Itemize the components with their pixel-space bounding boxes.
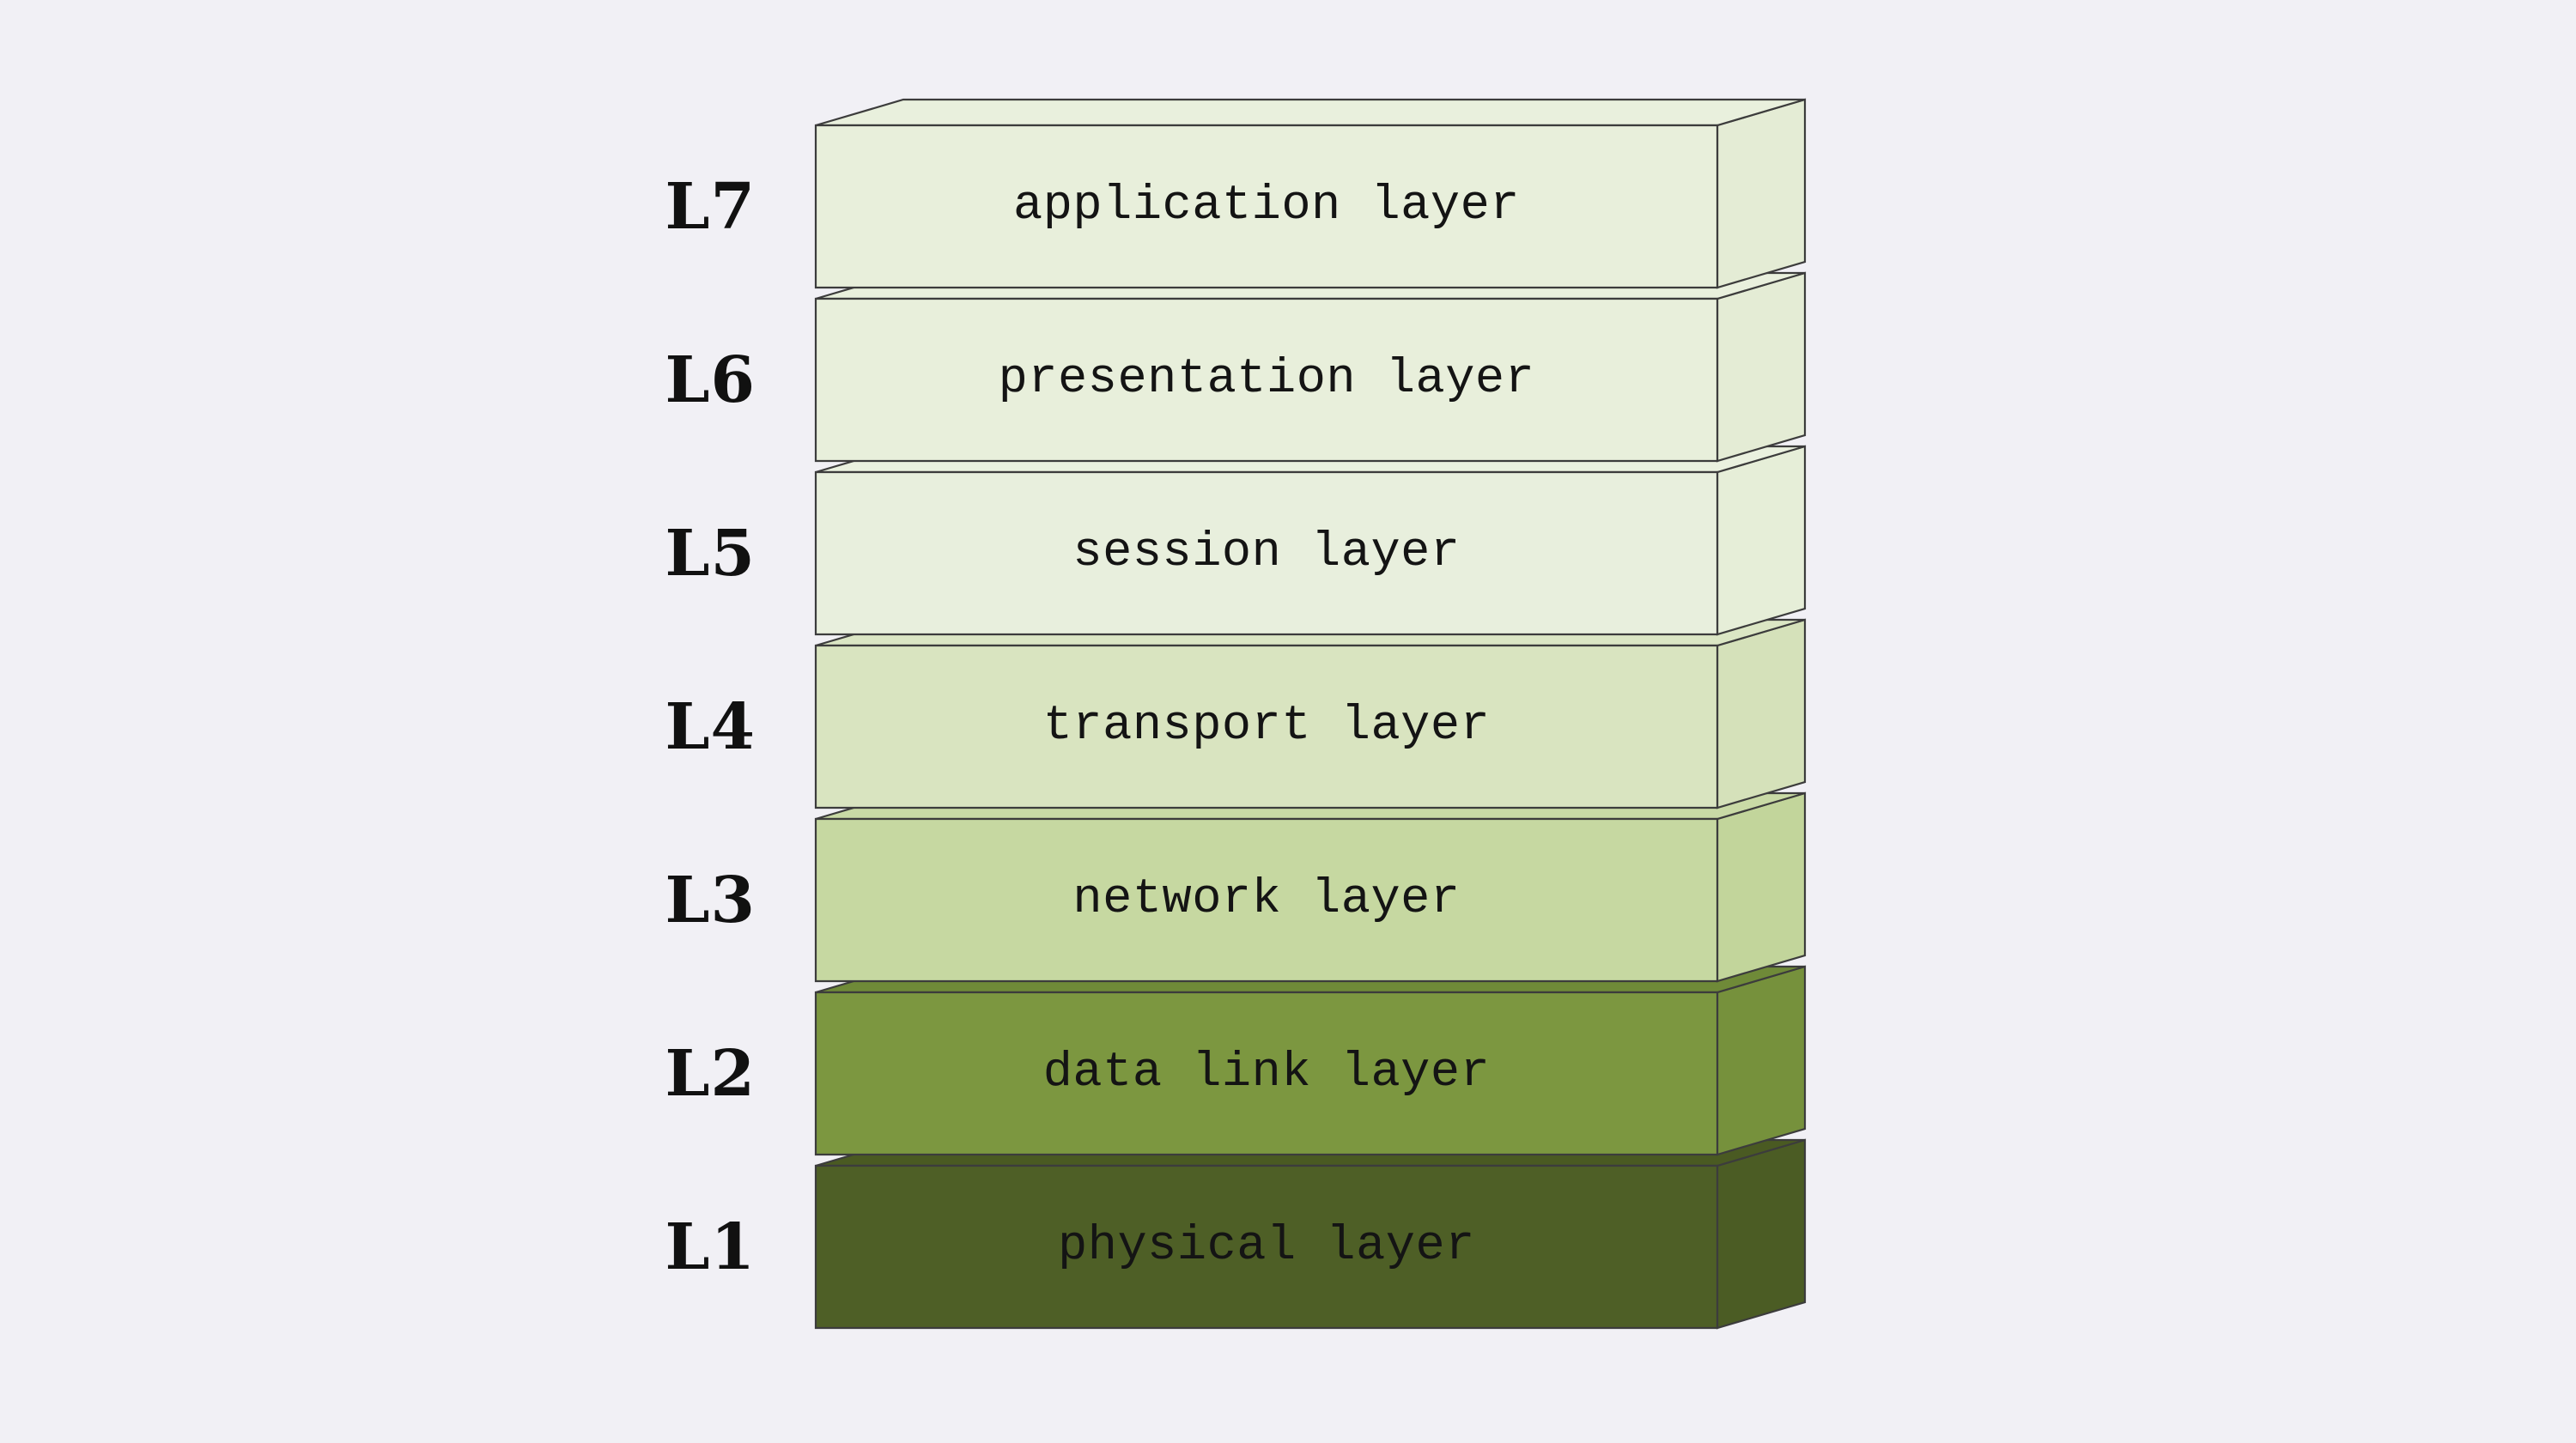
layer-index-label-L3: L3 [601,869,756,932]
diagram-canvas: L7L6L5L4L3L2L1 application layerpresenta… [0,0,2576,1443]
layer-side-face-L2 [1717,967,1805,1155]
layer-side-face-L4 [1717,620,1805,808]
layer-side-face-L7 [1717,100,1805,288]
layer-name-L4: transport layer [816,702,1717,751]
layer-name-L6: presentation layer [816,355,1717,404]
layer-side-face-L5 [1717,446,1805,634]
layer-side-face-L3 [1717,793,1805,981]
layer-index-label-L2: L2 [601,1042,756,1106]
layer-name-L1: physical layer [816,1222,1717,1271]
layer-side-face-L1 [1717,1140,1805,1328]
layer-name-L5: session layer [816,529,1717,578]
layer-index-label-L4: L4 [601,695,756,759]
layer-name-L7: application layer [816,182,1717,231]
layer-index-label-L6: L6 [601,349,756,412]
layer-index-label-L7: L7 [601,175,756,239]
layer-index-label-L1: L1 [601,1216,756,1279]
layer-top-face-L7 [816,100,1805,125]
layer-name-L3: network layer [816,876,1717,925]
layer-index-label-L5: L5 [601,522,756,585]
layer-name-L2: data link layer [816,1049,1717,1098]
layer-side-face-L6 [1717,273,1805,461]
